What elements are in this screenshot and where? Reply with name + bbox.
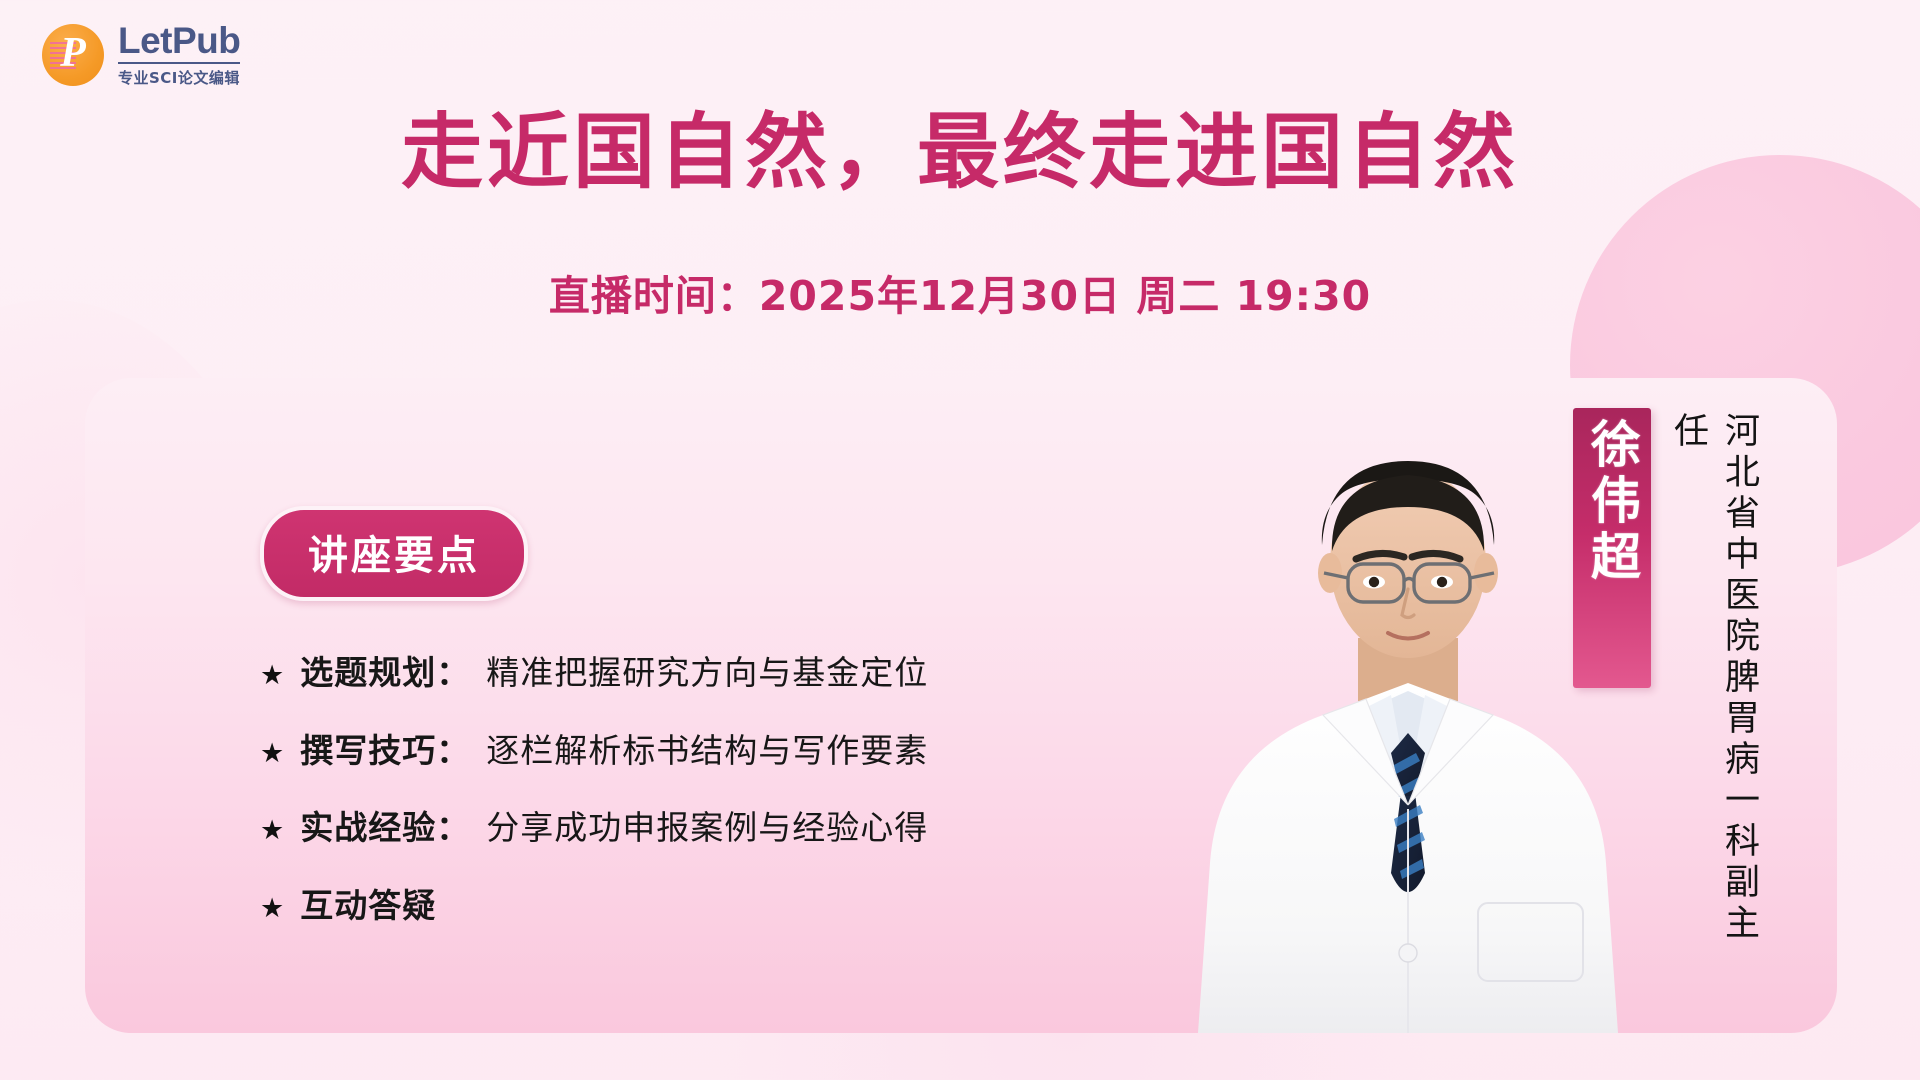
speaker-name-banner: 徐伟超 [1573, 408, 1651, 688]
list-item: ★ 实战经验： 分享成功申报案例与经验心得 [260, 808, 1160, 848]
broadcast-time: 直播时间：2025年12月30日 周二 19:30 [0, 262, 1920, 322]
lecture-points-badge: 讲座要点 [260, 506, 528, 601]
brand-tagline: 专业SCI论文编辑 [118, 67, 240, 88]
letpub-logo[interactable]: P LetPub 专业SCI论文编辑 [42, 22, 240, 88]
content-panel: 讲座要点 ★ 选题规划： 精准把握研究方向与基金定位 ★ 撰写技巧： 逐栏解析标… [85, 378, 1837, 1033]
list-item-label: 互动答疑 [300, 886, 436, 926]
letpub-logo-mark-icon: P [42, 24, 104, 86]
list-item-desc: 精准把握研究方向与基金定位 [486, 653, 928, 693]
list-item: ★ 选题规划： 精准把握研究方向与基金定位 [260, 653, 1160, 693]
list-item: ★ 撰写技巧： 逐栏解析标书结构与写作要素 [260, 731, 1160, 771]
star-icon: ★ [260, 893, 284, 925]
logo-letter-p: P [42, 24, 104, 86]
list-item: ★ 互动答疑 [260, 886, 1160, 926]
list-item-label: 撰写技巧： [300, 731, 470, 771]
speaker-name: 徐伟超 [1576, 418, 1648, 586]
list-item-desc: 分享成功申报案例与经验心得 [486, 808, 928, 848]
speaker-affiliation: 河北省中医院脾胃病一科副主任 [1663, 412, 1765, 972]
lecture-points-section: 讲座要点 ★ 选题规划： 精准把握研究方向与基金定位 ★ 撰写技巧： 逐栏解析标… [260, 506, 1160, 963]
brand-name: LetPub [118, 22, 240, 64]
list-item-label: 实战经验： [300, 808, 470, 848]
star-icon: ★ [260, 738, 284, 770]
list-item-label: 选题规划： [300, 653, 470, 693]
star-icon: ★ [260, 660, 284, 692]
page-title: 走近国自然，最终走进国自然 [0, 112, 1920, 194]
star-icon: ★ [260, 815, 284, 847]
list-item-desc: 逐栏解析标书结构与写作要素 [486, 731, 928, 771]
lecture-points-list: ★ 选题规划： 精准把握研究方向与基金定位 ★ 撰写技巧： 逐栏解析标书结构与写… [260, 653, 1160, 925]
